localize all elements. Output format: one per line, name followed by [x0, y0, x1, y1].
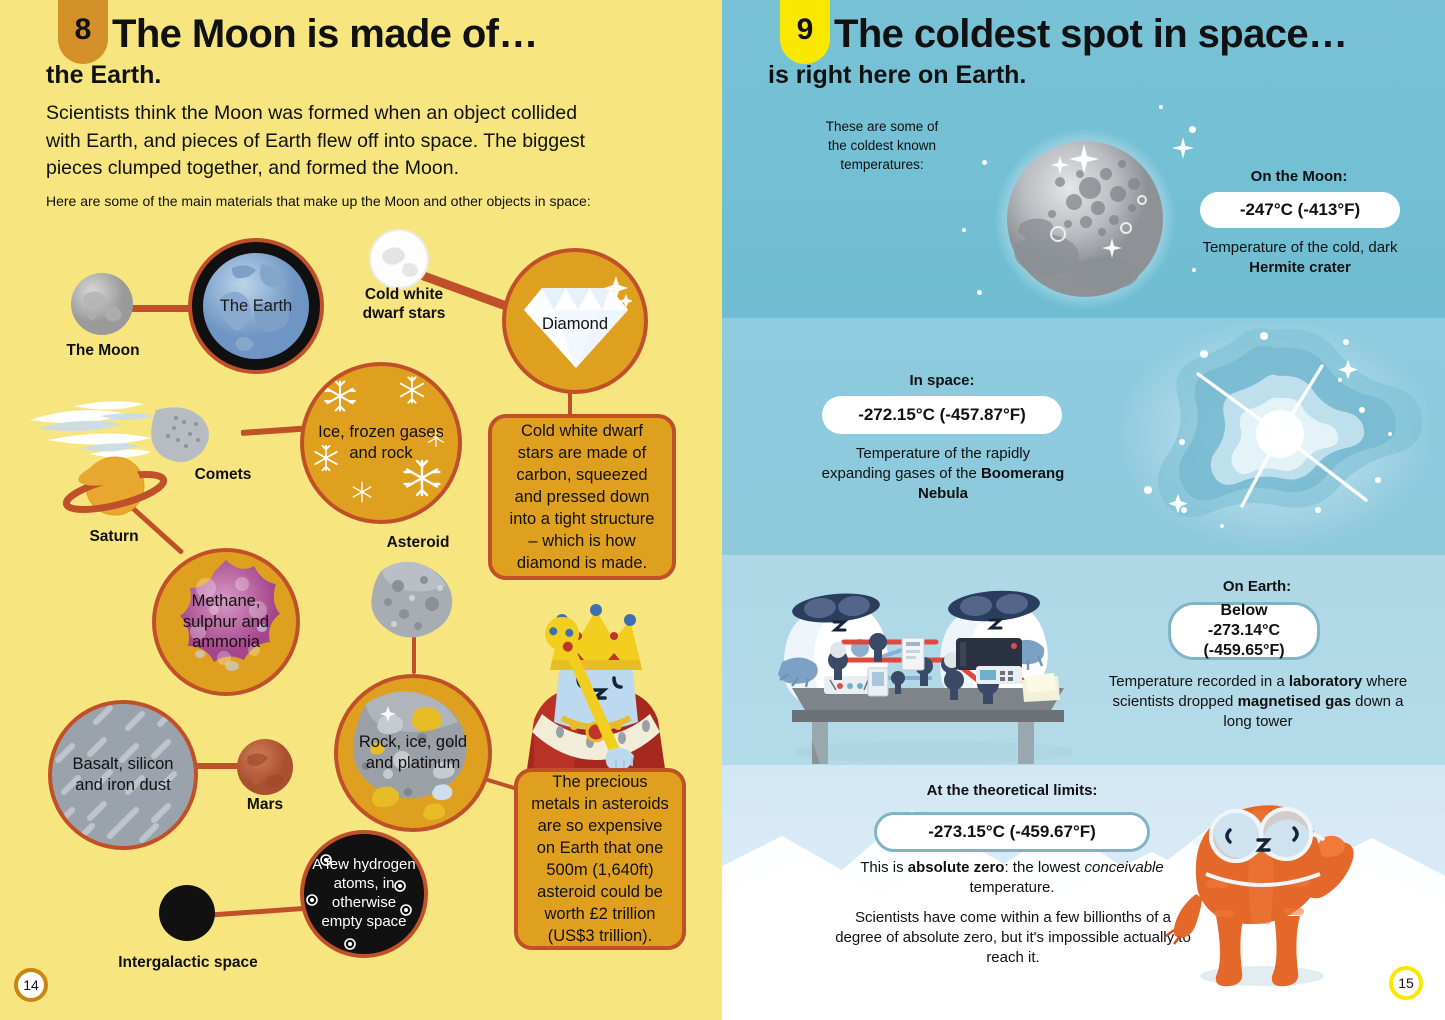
- caption-limits-p1: This is: [860, 859, 908, 876]
- bubble-diamond: Diamond: [502, 248, 648, 394]
- value-pill-earth: Below -273.14°C (-459.65°F): [1168, 602, 1320, 660]
- left-page: 8 The Moon is made of… the Earth. Scient…: [0, 0, 722, 1020]
- caption-limits-p4: conceivable: [1085, 859, 1164, 876]
- bubble-ice-label: Ice, frozen gases and rock: [304, 422, 458, 464]
- section-number-right: 9: [797, 15, 814, 49]
- star-decoration: [1159, 105, 1163, 109]
- caption-moon: Temperature of the cold, dark Hermite cr…: [1184, 238, 1416, 278]
- mars-icon: [236, 738, 294, 796]
- infobox-dwarf-note: Cold white dwarf stars are made of carbo…: [488, 414, 676, 580]
- caption-limits-p2: absolute zero: [908, 859, 1005, 876]
- heading-on-earth: On Earth:: [1112, 578, 1402, 597]
- black-circle-icon: [158, 884, 216, 942]
- caption-limits-p5: temperature.: [969, 879, 1054, 896]
- caption-space: Temperature of the rapidly expanding gas…: [820, 444, 1066, 504]
- caption-limits-p3: : the lowest: [1004, 859, 1084, 876]
- heading-theoretical-limits: At the theoretical limits:: [852, 782, 1172, 801]
- caption-moon-part2: Hermite crater: [1249, 259, 1351, 276]
- bubble-basalt-label: Basalt, silicon and iron dust: [52, 754, 194, 796]
- value-space: -272.15°C (-457.87°F): [844, 404, 1040, 425]
- sparkle-icon: [1172, 137, 1194, 159]
- bubble-hydrogen-label: A few hydrogen atoms, in otherwise empty…: [304, 856, 424, 932]
- right-subhead: is right here on Earth.: [768, 63, 1328, 88]
- left-body-text: Scientists think the Moon was formed whe…: [46, 100, 602, 183]
- caption-earth: Temperature recorded in a laboratory whe…: [1108, 672, 1408, 732]
- value-pill-space: -272.15°C (-457.87°F): [822, 396, 1062, 434]
- label-asteroid: Asteroid: [368, 534, 468, 553]
- page-number-right: 15: [1389, 966, 1423, 1000]
- infobox-dwarf-note-text: Cold white dwarf stars are made of carbo…: [492, 414, 672, 581]
- infobox-metals-note-text: The precious metals in asteroids are so …: [518, 765, 682, 954]
- label-comets: Comets: [168, 466, 278, 485]
- left-headline: The Moon is made of…: [112, 14, 692, 54]
- caption-earth-p1: Temperature recorded in a: [1109, 673, 1289, 690]
- asteroid-icon: [362, 556, 458, 642]
- page-number-left-value: 14: [23, 977, 39, 993]
- book-spread: 8 The Moon is made of… the Earth. Scient…: [0, 0, 1445, 1020]
- caption-moon-part1: Temperature of the cold, dark: [1202, 239, 1397, 256]
- value-earth: Below -273.14°C (-459.65°F): [1171, 601, 1317, 661]
- caption-earth-p4: magnetised gas: [1238, 693, 1351, 710]
- label-intergalactic-space: Intergalactic space: [108, 954, 268, 973]
- bubble-diamond-label: Diamond: [534, 314, 616, 335]
- label-mars: Mars: [232, 796, 298, 815]
- white-dwarf-icon: [368, 228, 430, 290]
- star-decoration: [977, 290, 982, 295]
- left-subhead: the Earth.: [46, 63, 606, 88]
- page-number-right-value: 15: [1398, 975, 1414, 991]
- orange-yeti-illustration: [1162, 788, 1362, 988]
- saturn-icon: [60, 452, 170, 526]
- page-number-left: 14: [14, 968, 48, 1002]
- caption-limits-2: Scientists have come within a few billio…: [830, 908, 1196, 968]
- nebula-illustration: [1122, 322, 1445, 554]
- bubble-methane: Methane, sulphur and ammonia: [152, 548, 300, 696]
- value-pill-limits: -273.15°C (-459.67°F): [874, 812, 1150, 852]
- right-intro-text: These are some of the coldest known temp…: [792, 118, 972, 175]
- right-page: 9 The coldest spot in space… is right he…: [722, 0, 1445, 1020]
- bubble-methane-label: Methane, sulphur and ammonia: [156, 591, 296, 653]
- section-number-tab-8: 8: [58, 0, 108, 64]
- moon-illustration: [994, 128, 1176, 310]
- caption-limits-1: This is absolute zero: the lowest concei…: [850, 858, 1174, 898]
- value-limits: -273.15°C (-459.67°F): [914, 821, 1110, 842]
- star-decoration: [962, 228, 966, 232]
- star-decoration: [1189, 126, 1196, 133]
- section-number: 8: [75, 15, 92, 49]
- caption-earth-p2: laboratory: [1289, 673, 1362, 690]
- bubble-earth: The Earth: [188, 238, 324, 374]
- heading-in-space: In space:: [830, 372, 1054, 391]
- left-intro-line: Here are some of the main materials that…: [46, 192, 646, 212]
- yeti-laboratory-illustration: [764, 556, 1104, 764]
- bubble-basalt: Basalt, silicon and iron dust: [48, 700, 198, 850]
- infobox-metals-note: The precious metals in asteroids are so …: [514, 768, 686, 950]
- bubble-rock-gold-label: Rock, ice, gold and platinum: [338, 732, 488, 774]
- label-saturn: Saturn: [64, 528, 164, 547]
- star-decoration: [982, 160, 987, 165]
- label-the-moon: The Moon: [48, 342, 158, 361]
- value-moon: -247°C (-413°F): [1226, 199, 1374, 220]
- section-number-tab-9: 9: [780, 0, 830, 64]
- heading-on-the-moon: On the Moon:: [1184, 168, 1414, 187]
- bubble-earth-label: The Earth: [212, 296, 300, 317]
- moon-icon: [70, 272, 134, 336]
- bubble-rock-gold: Rock, ice, gold and platinum: [334, 674, 492, 832]
- label-cold-white-dwarf-stars: Cold white dwarf stars: [352, 286, 456, 323]
- value-pill-moon: -247°C (-413°F): [1200, 192, 1400, 228]
- bubble-hydrogen: A few hydrogen atoms, in otherwise empty…: [300, 830, 428, 958]
- right-headline: The coldest spot in space…: [834, 14, 1434, 54]
- bubble-ice: Ice, frozen gases and rock: [300, 362, 462, 524]
